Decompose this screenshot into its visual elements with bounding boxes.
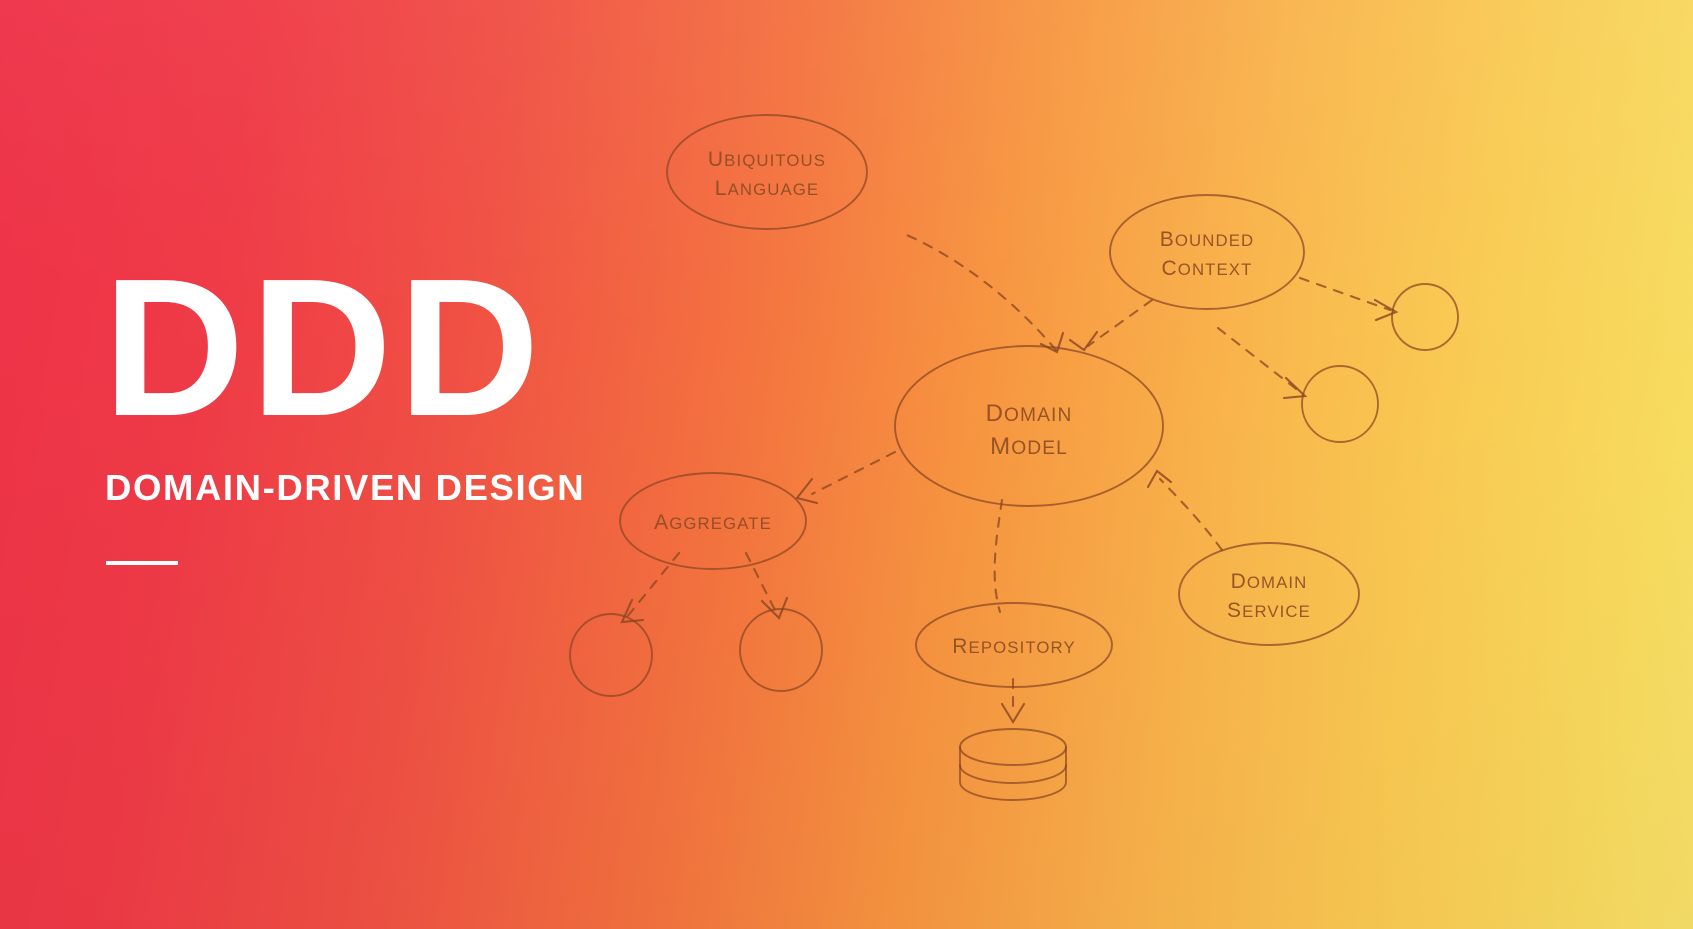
node-label-bounded-context-line2: CONTEXT	[1162, 257, 1253, 280]
node-ubiquitous-language[interactable]: UBIQUITOUS LANGUAGE	[667, 115, 867, 229]
node-bounded-context-child-1[interactable]	[1392, 284, 1458, 350]
node-domain-model[interactable]: DOMAIN MODEL	[895, 346, 1163, 506]
node-bounded-context[interactable]: BOUNDED CONTEXT	[1110, 195, 1304, 309]
node-label-ubiquitous-language-line1: UBIQUITOUS	[708, 148, 826, 171]
node-label-domain-model-line1: DOMAIN	[986, 400, 1073, 427]
page-subtitle: DOMAIN-DRIVEN DESIGN	[105, 467, 585, 509]
edge-bounded-context-to-child-2	[1218, 328, 1305, 398]
slide-canvas: UBIQUITOUS LANGUAGE BOUNDED CONTEXT DOMA…	[0, 0, 1693, 929]
hero-block: DDD DOMAIN-DRIVEN DESIGN	[103, 268, 585, 565]
node-label-domain-model-line2: MODEL	[990, 433, 1068, 460]
edge-domain-model-to-repository	[995, 500, 1002, 612]
page-title: DDD	[103, 268, 585, 429]
node-database-cylinder[interactable]	[960, 729, 1066, 800]
node-label-ubiquitous-language-line2: LANGUAGE	[715, 177, 819, 200]
edge-domain-model-to-aggregate	[797, 452, 895, 503]
edge-bounded-context-to-domain-model	[1070, 300, 1152, 350]
node-label-domain-service-line2: SERVICE	[1227, 599, 1311, 622]
node-repository[interactable]: REPOSITORY	[916, 603, 1112, 687]
edge-bounded-context-to-child-1	[1300, 278, 1396, 320]
node-label-repository: REPOSITORY	[952, 635, 1075, 658]
divider-rule	[106, 561, 178, 565]
node-bounded-context-child-2[interactable]	[1302, 366, 1378, 442]
node-label-bounded-context-line1: BOUNDED	[1160, 228, 1254, 251]
node-aggregate[interactable]: AGGREGATE	[620, 473, 806, 569]
node-domain-service[interactable]: DOMAIN SERVICE	[1179, 543, 1359, 645]
node-aggregate-child-2[interactable]	[740, 609, 822, 691]
node-label-domain-service-line1: DOMAIN	[1231, 570, 1308, 593]
edge-repository-to-database	[1002, 679, 1024, 722]
node-label-aggregate: AGGREGATE	[654, 511, 772, 534]
edge-domain-service-to-domain-model	[1148, 471, 1222, 550]
node-aggregate-child-1[interactable]	[570, 614, 652, 696]
edge-domain-model-to-ubiquitous-language	[900, 232, 1063, 352]
